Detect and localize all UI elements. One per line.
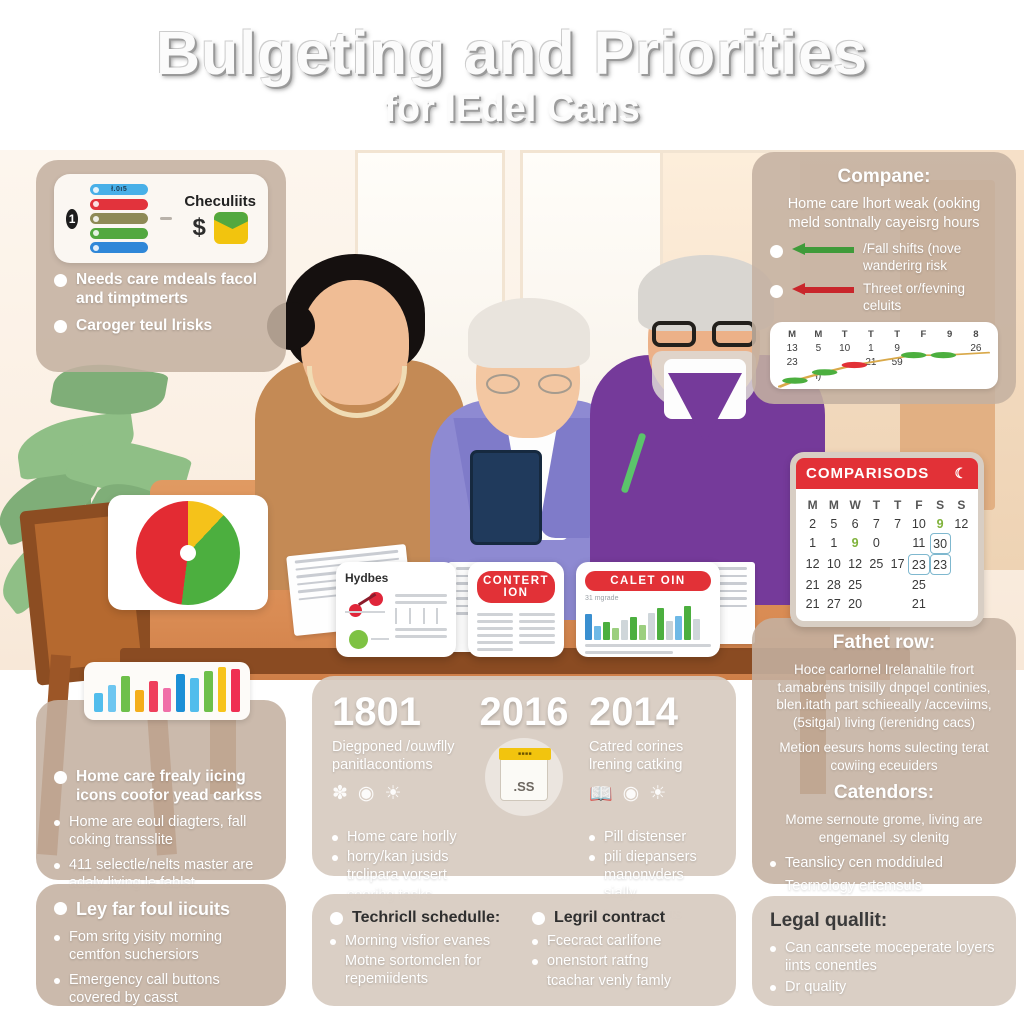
- bullet-dot: [54, 771, 67, 784]
- calendar-day[interactable]: 25: [845, 575, 866, 594]
- calendar-day[interactable]: 20: [845, 594, 866, 613]
- list-item-text: Tecrnology ertemsuls: [785, 877, 922, 895]
- book-icon: 📖: [589, 782, 613, 806]
- page-subtitle: for lEdel Cans: [0, 88, 1024, 131]
- panel-legal-quality: Legal quallit: Can canrsete moceperate l…: [752, 896, 1016, 1006]
- bar: [648, 613, 655, 640]
- panel-stats: 1801 Diegponed /ouwflly panitlacontioms …: [312, 676, 736, 876]
- panel-heading: Compane:: [770, 166, 998, 188]
- scatter-mini: [345, 590, 389, 652]
- doc-card-caletoin[interactable]: CALET OIN 31 mgrade: [576, 562, 720, 657]
- bullet-dot: [54, 320, 67, 333]
- mini-line-chart-card: MMTTTF98 135101926 232159 ł): [770, 322, 998, 389]
- stat-block-2: 2016 ■■■■ .SS: [469, 692, 579, 816]
- calendar-dow: M: [823, 495, 844, 514]
- bar: [231, 669, 240, 712]
- calendar-day[interactable]: 2: [802, 514, 823, 533]
- bottom-block-contract: Legril contract Fcecract carlifone onens…: [532, 908, 718, 992]
- calendar-header: COMPARISODS ☾: [796, 458, 978, 489]
- bullet-dot: [589, 855, 595, 861]
- moon-icon: ☾: [954, 465, 968, 482]
- panel-heading-row: Techricll schedulle:: [330, 908, 516, 928]
- infographic-page: Bulgeting and Priorities for lEdel Cans: [0, 0, 1024, 1024]
- pie-chart-card: [108, 495, 268, 610]
- checklist-bar-label: ł.0ı5: [111, 186, 127, 193]
- pie-icon: ◉: [623, 782, 640, 806]
- panel-heading: Catendors:: [770, 782, 998, 804]
- calendar-day: [930, 575, 951, 594]
- list-item-text: Caroger teul lrisks: [76, 316, 212, 335]
- list-item: Dr quality: [770, 978, 998, 996]
- panel-body: Hoce carlornel Irelanaltile frort t.amab…: [770, 661, 998, 731]
- doc-card-heading: CONTERT ION: [477, 571, 555, 603]
- calendar-day[interactable]: 12: [845, 554, 866, 575]
- list-item-text: horry/kan jusids trclipara vorsert: [347, 848, 459, 884]
- arrow-row-text: Threet or/fevning celuits: [863, 281, 998, 315]
- glasses-icon: [486, 374, 572, 394]
- list-item: Needs care mdeals facol and timptmerts: [54, 270, 268, 309]
- doc-card-heading: Hydbes: [345, 571, 447, 585]
- panel-heading: Techricll schedulle:: [352, 908, 500, 928]
- calendar-day[interactable]: 5: [823, 514, 844, 533]
- stat-block-3: 2014 Catred corines lrening catking 📖 ◉ …: [589, 692, 716, 816]
- list-item-text: Needs care mdeals facol and timptmerts: [76, 270, 268, 309]
- bar: [666, 621, 673, 640]
- bullet-dot: [54, 935, 60, 941]
- panel-heading: Fathet row:: [770, 632, 998, 654]
- calendar-dow: W: [845, 495, 866, 514]
- step-badge: 1: [66, 209, 78, 229]
- title-block: Bulgeting and Priorities for lEdel Cans: [0, 22, 1024, 131]
- calendar-dow: F: [908, 495, 929, 514]
- panel-subtext: Home care lhort weak (ooking meld sontna…: [770, 195, 998, 233]
- bullet-dot: [770, 985, 776, 991]
- list-item-text: Fcecract carlifone: [547, 932, 661, 950]
- calendar-day[interactable]: 1: [802, 533, 823, 554]
- list-item: Can canrsete moceperate loyers iints con…: [770, 939, 998, 975]
- stat-number: 2014: [589, 692, 716, 732]
- doc-card-contertion[interactable]: CONTERT ION: [468, 562, 564, 657]
- list-item: Fcecract carlifone: [532, 932, 718, 950]
- calendar-grid[interactable]: MMWTTFSS25677109121190113012101225172323…: [796, 489, 978, 621]
- bullet-dot: [532, 912, 545, 925]
- calendar-dow: T: [866, 495, 887, 514]
- list-item-text: Home are eoul diagters, fall coking tran…: [69, 813, 268, 849]
- bullet-dot: [532, 939, 538, 945]
- bullet-dot: [54, 274, 67, 287]
- bullet-dot: [332, 855, 338, 861]
- bar: [94, 693, 103, 712]
- bottom-block-schedule: Techricll schedulle: Morning visfior eva…: [330, 908, 516, 992]
- list-item: onenstort ratfng: [532, 952, 718, 970]
- checklist-card: 1 ł.0ı5 Checuliits $: [54, 174, 268, 263]
- calendar-day: [866, 575, 887, 594]
- globe-icon: ☀: [649, 782, 666, 806]
- bullet-dot: [770, 245, 783, 258]
- calendar-day[interactable]: 23: [908, 554, 929, 575]
- panel-heading: Legril contract: [554, 908, 665, 928]
- bar: [135, 690, 144, 712]
- bar: [603, 622, 610, 640]
- list-item: tcachar venly famly: [532, 972, 718, 990]
- arrow-row-red: Threet or/fevning celuits: [770, 281, 998, 315]
- stat-block-1: 1801 Diegponed /ouwflly panitlacontioms …: [332, 692, 459, 816]
- list-item-text: Can canrsete moceperate loyers iints con…: [785, 939, 998, 975]
- arrow-left-red-icon: [792, 284, 854, 295]
- panel-needs-care: 1 ł.0ı5 Checuliits $: [36, 160, 286, 372]
- doc-card-subtitle: 31 mgrade: [585, 595, 711, 602]
- pie-icon: ◉: [358, 782, 375, 805]
- calendar-day[interactable]: 0: [866, 533, 887, 554]
- list-item: Pill distenser: [589, 828, 716, 846]
- list-item-text: Motne sortomclen for repemiidents: [345, 952, 516, 988]
- mini-chart-line: [778, 338, 990, 390]
- calendar-day[interactable]: 12: [951, 514, 972, 533]
- calendar-day[interactable]: 27: [823, 594, 844, 613]
- list-item: Fom sritg yisity morning cemtfon suchers…: [54, 928, 268, 964]
- panel-heading-row: Legril contract: [532, 908, 718, 928]
- page-title: Bulgeting and Priorities: [0, 22, 1024, 84]
- calendar-day: [951, 533, 972, 554]
- calendar-day[interactable]: 7: [866, 514, 887, 533]
- calendar-day[interactable]: 10: [823, 554, 844, 575]
- bar: [693, 619, 700, 640]
- list-item-text: Emergency call buttons covered by casst: [69, 971, 268, 1007]
- bar: [675, 616, 682, 640]
- bar: [149, 681, 158, 712]
- calendar-day[interactable]: 10: [908, 514, 929, 533]
- bar: [176, 674, 185, 712]
- calendar-day[interactable]: 6: [845, 514, 866, 533]
- calendar-day: [887, 594, 908, 613]
- stat-caption: Diegponed /ouwflly panitlacontioms: [332, 738, 459, 774]
- calendar-icon-label: .SS: [514, 779, 535, 794]
- list-item-text: Morning visfior evanes: [345, 932, 490, 950]
- calendar-card[interactable]: COMPARISODS ☾ MMWTTFSS256771091211901130…: [790, 452, 984, 627]
- calendar-day: [887, 533, 908, 554]
- bar: [630, 617, 637, 640]
- list-item: Home care frealy iicing icons coofor yea…: [54, 767, 268, 806]
- list-item-text: Home care frealy iicing icons coofor yea…: [76, 767, 268, 806]
- doc-card-hydbes[interactable]: Hydbes: [336, 562, 456, 657]
- bar: [190, 678, 199, 712]
- list-item: horry/kan jusids trclipara vorsert: [332, 848, 459, 884]
- calendar-day[interactable]: 25: [866, 554, 887, 575]
- bullet-dot: [54, 978, 60, 984]
- panel-father-row: Fathet row: Hoce carlornel Irelanaltile …: [752, 618, 1016, 884]
- bar: [684, 606, 691, 640]
- list-item: Motne sortomclen for repemiidents: [330, 952, 516, 988]
- bar: [657, 608, 664, 640]
- tablet-device: [470, 450, 542, 545]
- panel-home-care: Home care frealy iicing icons coofor yea…: [36, 700, 286, 880]
- panel-schedule-contract: Techricll schedulle: Morning visfior eva…: [312, 894, 736, 1006]
- calendar-day: [866, 594, 887, 613]
- calendar-day: [930, 594, 951, 613]
- bullet-dot: [770, 861, 776, 867]
- calendar-icon: ■■■■ .SS: [485, 738, 563, 816]
- bar: [612, 628, 619, 640]
- calendar-day[interactable]: 7: [887, 514, 908, 533]
- glasses-icon: [652, 321, 756, 347]
- list-item-text: Dr quality: [785, 978, 846, 996]
- calendar-dow: T: [887, 495, 908, 514]
- calendar-day: [951, 554, 972, 575]
- doc-card-heading: CALET OIN: [585, 571, 711, 591]
- calendar-dow: S: [930, 495, 951, 514]
- bar: [585, 614, 592, 640]
- list-item: Teanslicy cen moddiuled: [770, 854, 998, 872]
- calendar-day[interactable]: 17: [887, 554, 908, 575]
- checklist-label: Checuliits: [184, 193, 256, 210]
- calendar-day[interactable]: 12: [802, 554, 823, 575]
- panel-body: Metion eesurs homs sulecting terat cowii…: [770, 739, 998, 774]
- calendar-day: [951, 594, 972, 613]
- list-item: Tecrnology ertemsuls: [770, 877, 998, 895]
- bar: [639, 625, 646, 640]
- bullet-dot: [54, 863, 60, 869]
- bullet-dot: [770, 884, 776, 890]
- bullet-dot: [54, 902, 67, 915]
- stat-number: 1801: [332, 692, 459, 732]
- list-item-text: Fom sritg yisity morning cemtfon suchers…: [69, 928, 268, 964]
- calendar-day[interactable]: 1: [823, 533, 844, 554]
- panel-compare: Compane: Home care lhort weak (ooking me…: [752, 152, 1016, 404]
- bullet-dot: [54, 820, 60, 826]
- list-item: Caroger teul lrisks: [54, 316, 268, 335]
- calendar-day[interactable]: 30: [930, 533, 951, 554]
- arrow-row-green: /Fall shifts (nove wanderirg risk: [770, 241, 998, 275]
- calendar-day: [951, 575, 972, 594]
- calendar-day[interactable]: 21: [908, 594, 929, 613]
- panel-heading-row: Ley far foul iicuits: [54, 898, 268, 921]
- calendar-day[interactable]: 9: [845, 533, 866, 554]
- stat-caption: Catred corines lrening catking: [589, 738, 716, 774]
- bar: [108, 685, 117, 712]
- list-item-text: Home care horlly: [347, 828, 457, 846]
- calendar-day[interactable]: 23: [930, 554, 951, 575]
- calendar-day[interactable]: 28: [823, 575, 844, 594]
- list-item-text: Teanslicy cen moddiuled: [785, 854, 943, 872]
- bullet-dot: [332, 835, 338, 841]
- bar: [218, 667, 227, 712]
- bar-chart-card: [84, 662, 250, 720]
- panel-heading: Legal quallit:: [770, 910, 998, 932]
- list-item: Home care horlly: [332, 828, 459, 846]
- list-item-text: tcachar venly famly: [547, 972, 671, 990]
- bar: [121, 676, 130, 712]
- calendar-day[interactable]: 9: [930, 514, 951, 533]
- bullet-dot: [589, 835, 595, 841]
- bar: [163, 688, 172, 712]
- panel-heading: Ley far foul iicuits: [76, 898, 230, 921]
- pie-chart: [136, 501, 240, 605]
- calendar-day: [887, 575, 908, 594]
- doc-card-bar-chart: [585, 604, 711, 640]
- bullet-dot: [330, 939, 336, 945]
- calendar-title: COMPARISODS: [806, 465, 929, 482]
- checklist-bars: ł.0ı5: [90, 184, 148, 253]
- bullet-dot: [532, 959, 538, 965]
- list-item: Emergency call buttons covered by casst: [54, 971, 268, 1007]
- stat-number: 2016: [469, 692, 579, 732]
- dollar-icon: $: [192, 214, 205, 242]
- bullet-dot: [770, 285, 783, 298]
- calendar-day[interactable]: 25: [908, 575, 929, 594]
- calendar-dow: S: [951, 495, 972, 514]
- asterisk-icon: ✽: [332, 782, 348, 805]
- list-item-text: Pill distenser: [604, 828, 686, 846]
- globe-icon: ☀: [385, 782, 402, 805]
- bar: [621, 620, 628, 640]
- panel-key-foul-circuits: Ley far foul iicuits Fom sritg yisity mo…: [36, 884, 286, 1006]
- arrow-row-text: /Fall shifts (nove wanderirg risk: [863, 241, 998, 275]
- calendar-dow: M: [802, 495, 823, 514]
- divider: [160, 217, 172, 220]
- arrow-left-green-icon: [792, 244, 854, 255]
- calendar-day[interactable]: 21: [802, 594, 823, 613]
- list-item-text: onenstort ratfng: [547, 952, 649, 970]
- calendar-day[interactable]: 21: [802, 575, 823, 594]
- list-item: Morning visfior evanes: [330, 932, 516, 950]
- wallet-icon: [214, 212, 248, 244]
- bullet-dot: [330, 912, 343, 925]
- panel-body: Mome sernoute grome, living are engemane…: [770, 811, 998, 846]
- bar: [204, 671, 213, 712]
- calendar-day[interactable]: 11: [908, 533, 929, 554]
- list-item: Home are eoul diagters, fall coking tran…: [54, 813, 268, 849]
- bar: [594, 626, 601, 640]
- bullet-dot: [770, 946, 776, 952]
